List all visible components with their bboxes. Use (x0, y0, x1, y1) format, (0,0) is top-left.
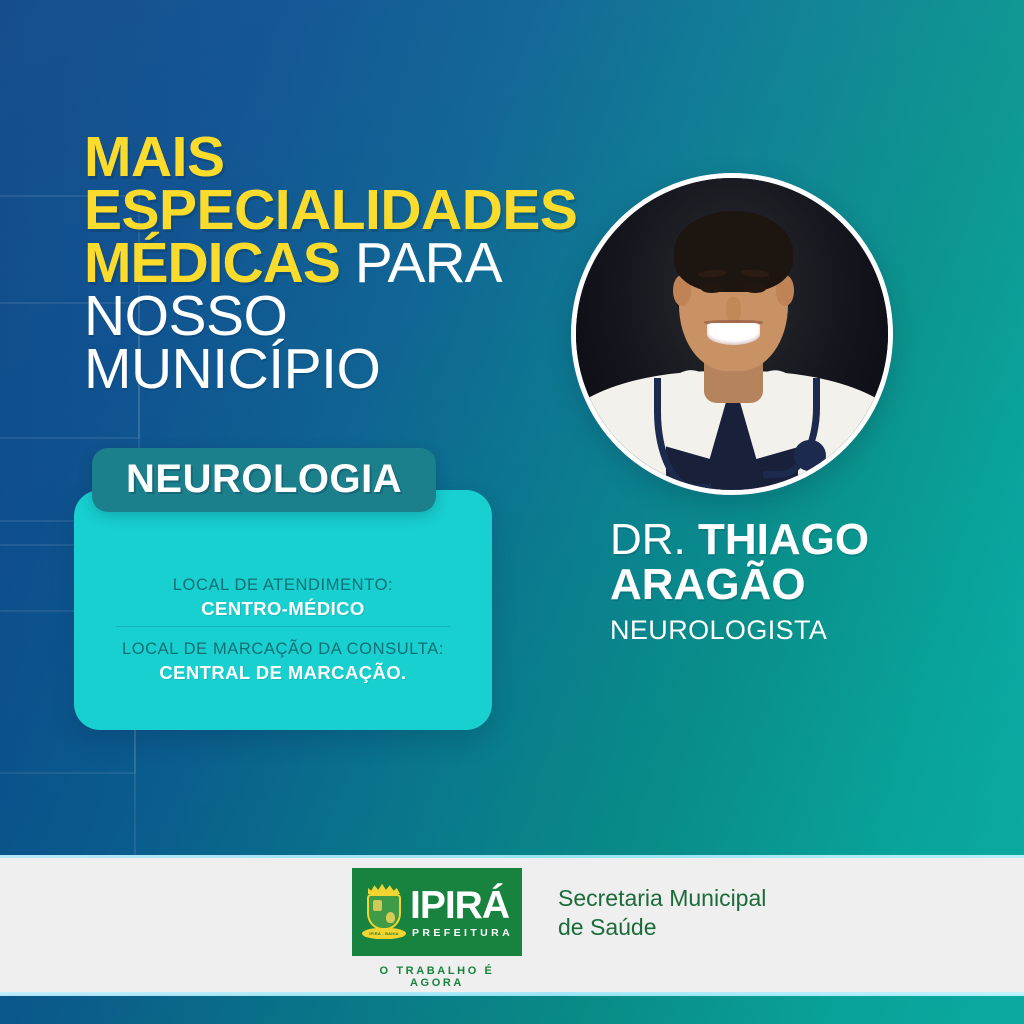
headline-line-3: MÉDICAS PARA (84, 237, 624, 290)
doctor-last-name: ARAGÃO (610, 562, 1010, 609)
department-line-1: Secretaria Municipal (558, 884, 766, 913)
info-label-booking: LOCAL DE MARCAÇÃO DA CONSULTA: (74, 638, 492, 660)
info-row-attendance: LOCAL DE ATENDIMENTO: CENTRO-MÉDICO (74, 574, 492, 622)
footer-content: IPIRÁ - BAHIA IPIRÁ PREFEITURA O TRABALH… (352, 868, 766, 989)
eye-left (701, 284, 723, 293)
info-value-attendance: CENTRO-MÉDICO (74, 596, 492, 622)
smile-teeth (707, 323, 760, 345)
logo-wordmark: IPIRÁ PREFEITURA (410, 886, 513, 939)
doctor-photo (576, 178, 888, 490)
doctor-name-line-1: DR. THIAGO (610, 518, 1010, 562)
headline-line-5: MUNICÍPIO (84, 343, 624, 396)
info-row-booking: LOCAL DE MARCAÇÃO DA CONSULTA: CENTRAL D… (74, 638, 492, 686)
doctor-first-name: THIAGO (698, 515, 869, 564)
logo-tagline: O TRABALHO É AGORA (352, 965, 522, 989)
shield-icon (367, 894, 401, 930)
city-logo: IPIRÁ - BAHIA IPIRÁ PREFEITURA O TRABALH… (352, 868, 522, 989)
headline-line-4: NOSSO (84, 290, 624, 343)
doctor-title: DR. (610, 515, 698, 564)
headline-line-3-rest: PARA (340, 231, 502, 295)
doctor-role: NEUROLOGISTA (610, 615, 1010, 646)
doctor-name-block: DR. THIAGO ARAGÃO NEUROLOGISTA (610, 518, 1010, 646)
promo-poster: MAIS ESPECIALIDADES MÉDICAS PARA NOSSO M… (0, 0, 1024, 1024)
footer-bottom-rule (0, 992, 1024, 996)
logo-subtitle: PREFEITURA (412, 928, 513, 939)
info-card: LOCAL DE ATENDIMENTO: CENTRO-MÉDICO LOCA… (74, 490, 492, 730)
eye-right (744, 284, 766, 293)
card-divider (116, 626, 450, 627)
department-line-2: de Saúde (558, 913, 766, 942)
department-label: Secretaria Municipal de Saúde (558, 884, 766, 942)
info-label-attendance: LOCAL DE ATENDIMENTO: (74, 574, 492, 596)
logo-city-name: IPIRÁ (410, 886, 513, 925)
nose-shape (726, 297, 742, 322)
page-title: MAIS ESPECIALIDADES MÉDICAS PARA NOSSO M… (84, 131, 624, 396)
motto-banner: IPIRÁ - BAHIA (362, 928, 406, 939)
coat-of-arms-icon: IPIRÁ - BAHIA (361, 881, 407, 943)
stethoscope-chestpiece (794, 440, 825, 471)
hair-shape (674, 211, 793, 292)
headline-line-2: ESPECIALIDADES (84, 184, 624, 237)
crown-icon (368, 883, 400, 894)
logo-green-plate: IPIRÁ - BAHIA IPIRÁ PREFEITURA (352, 868, 522, 956)
specialty-badge-label: NEUROLOGIA (126, 459, 402, 499)
avatar (571, 173, 893, 495)
crest-motto-text: IPIRÁ - BAHIA (362, 928, 406, 939)
footer-bar: IPIRÁ - BAHIA IPIRÁ PREFEITURA O TRABALH… (0, 858, 1024, 994)
status-badge: NEUROLOGIA (92, 448, 436, 512)
headline-line-1: MAIS (84, 131, 624, 184)
info-value-booking: CENTRAL DE MARCAÇÃO. (74, 660, 492, 686)
